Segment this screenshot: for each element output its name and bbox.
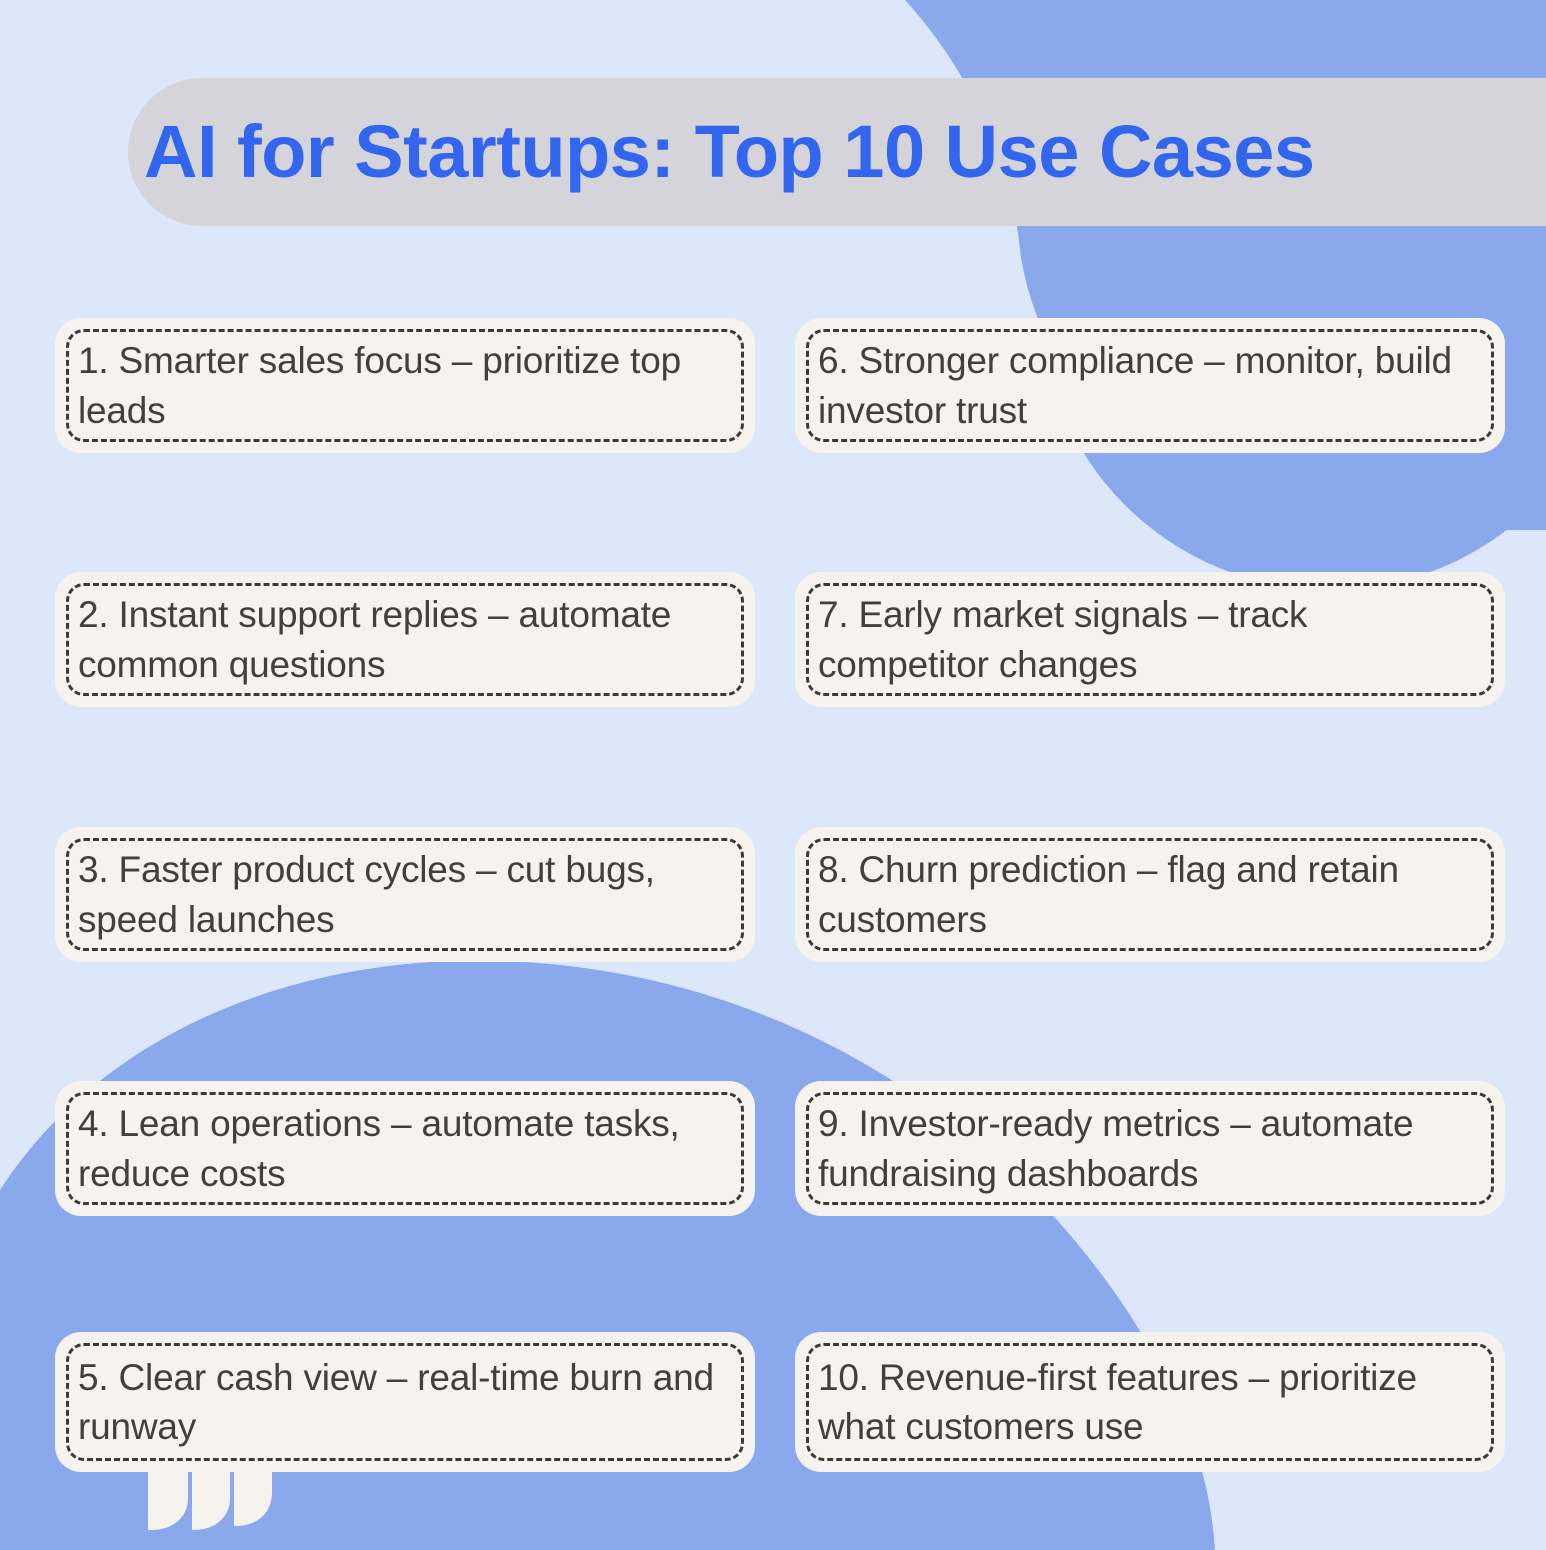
use-case-text-2: 2. Instant support replies – automate co… [72, 590, 738, 688]
use-case-text-4: 4. Lean operations – automate tasks, red… [72, 1099, 738, 1197]
use-case-text-9: 9. Investor-ready metrics – automate fun… [812, 1099, 1488, 1197]
use-case-text-8: 8. Churn prediction – flag and retain cu… [812, 845, 1488, 943]
use-case-card-9[interactable]: 9. Investor-ready metrics – automate fun… [795, 1081, 1505, 1216]
use-case-text-6: 6. Stronger compliance – monitor, build … [812, 336, 1488, 434]
use-case-card-5[interactable]: 5. Clear cash view – real-time burn and … [55, 1332, 755, 1472]
use-case-text-1: 1. Smarter sales focus – prioritize top … [72, 336, 738, 434]
use-case-card-grid: 1. Smarter sales focus – prioritize top … [0, 0, 1546, 1550]
use-case-card-4[interactable]: 4. Lean operations – automate tasks, red… [55, 1081, 755, 1216]
use-case-card-1[interactable]: 1. Smarter sales focus – prioritize top … [55, 318, 755, 453]
use-case-card-6[interactable]: 6. Stronger compliance – monitor, build … [795, 318, 1505, 453]
use-case-text-10: 10. Revenue-first features – prioritize … [812, 1353, 1488, 1451]
use-case-text-5: 5. Clear cash view – real-time burn and … [72, 1353, 738, 1451]
infographic-poster: AI for Startups: Top 10 Use Cases 1. Sma… [0, 0, 1546, 1550]
use-case-card-7[interactable]: 7. Early market signals – track competit… [795, 572, 1505, 707]
use-case-text-7: 7. Early market signals – track competit… [812, 590, 1488, 688]
use-case-text-3: 3. Faster product cycles – cut bugs, spe… [72, 845, 738, 943]
use-case-card-8[interactable]: 8. Churn prediction – flag and retain cu… [795, 827, 1505, 962]
use-case-card-2[interactable]: 2. Instant support replies – automate co… [55, 572, 755, 707]
use-case-card-3[interactable]: 3. Faster product cycles – cut bugs, spe… [55, 827, 755, 962]
drip-tail-icon [148, 1464, 272, 1534]
use-case-card-10[interactable]: 10. Revenue-first features – prioritize … [795, 1332, 1505, 1472]
